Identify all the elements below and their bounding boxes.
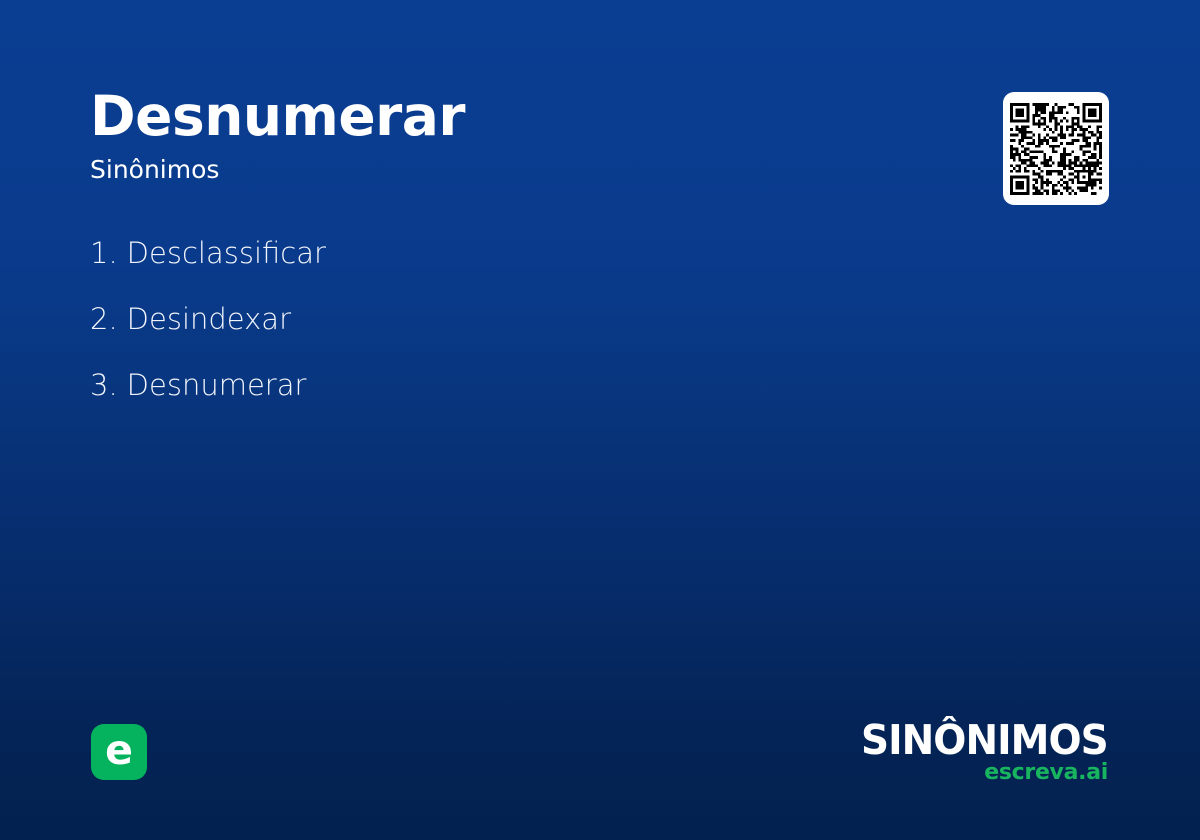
list-item: 2. Desindexar — [90, 302, 890, 368]
list-item-index: 3. — [90, 368, 118, 402]
headline-block: Desnumerar Sinônimos — [90, 88, 950, 184]
page-title: Desnumerar — [90, 88, 950, 144]
escreva-badge-icon[interactable]: e — [91, 724, 147, 780]
list-item-word: Desclassificar — [127, 236, 326, 270]
synonym-list: 1. Desclassificar 2. Desindexar 3. Desnu… — [90, 236, 890, 434]
list-item: 3. Desnumerar — [90, 368, 890, 434]
synonym-card: Desnumerar Sinônimos 1. Desclassificar 2… — [0, 0, 1200, 840]
brand-wordmark-title: SINÔNIMOS — [861, 722, 1108, 760]
qr-code-card[interactable] — [1003, 92, 1109, 205]
list-item: 1. Desclassificar — [90, 236, 890, 302]
list-item-index: 1. — [90, 236, 118, 270]
brand-wordmark[interactable]: SINÔNIMOS escreva.ai — [848, 722, 1108, 784]
brand-wordmark-subtitle: escreva.ai — [848, 762, 1108, 784]
escreva-badge-letter: e — [105, 730, 133, 771]
qr-code-icon[interactable] — [1010, 103, 1102, 195]
section-label: Sinônimos — [90, 156, 950, 184]
list-item-index: 2. — [90, 302, 118, 336]
list-item-word: Desindexar — [127, 302, 291, 336]
list-item-word: Desnumerar — [127, 368, 307, 402]
